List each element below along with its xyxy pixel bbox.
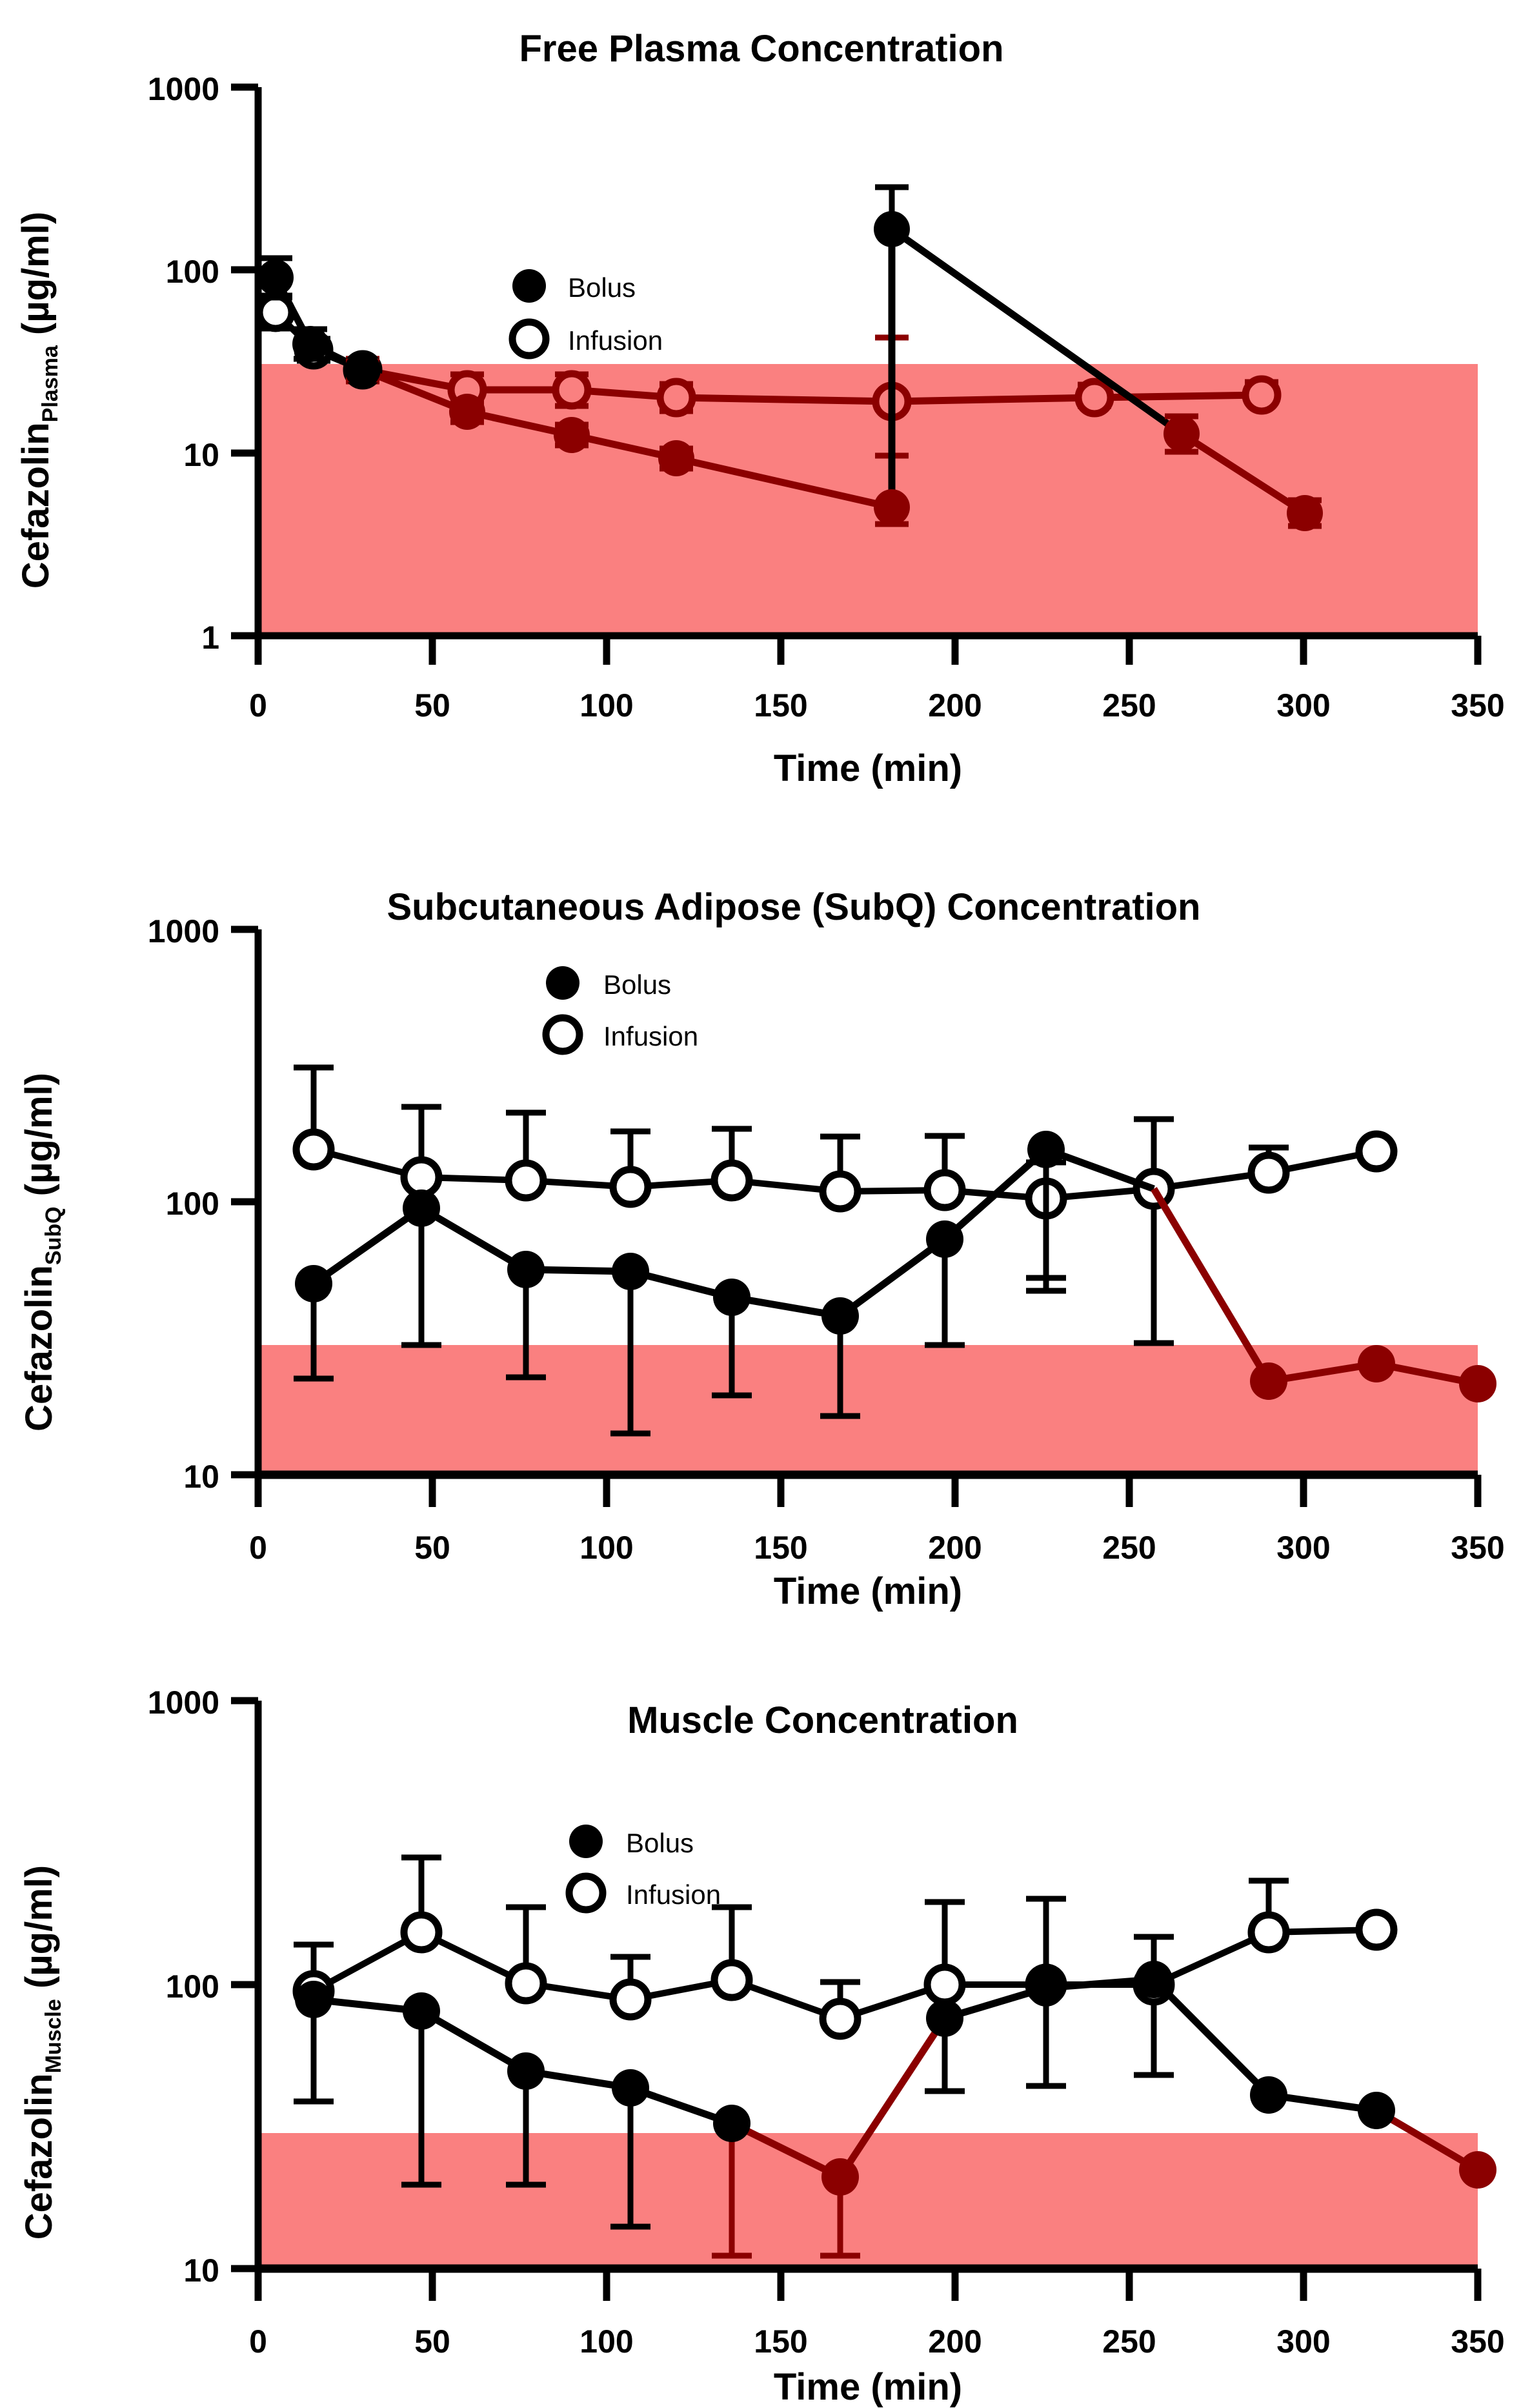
data-point-bolus bbox=[1163, 416, 1200, 452]
y-axis-label-sub: Muscle bbox=[41, 1999, 66, 2073]
legend-label-infusion: Infusion bbox=[568, 325, 663, 356]
legend-marker-infusion bbox=[569, 1876, 603, 1910]
legend-label-bolus: Bolus bbox=[568, 272, 636, 303]
data-point-bolus bbox=[403, 1992, 440, 2030]
data-point-bolus bbox=[257, 259, 294, 296]
legend-marker-bolus bbox=[546, 966, 579, 1000]
data-point-infusion bbox=[927, 1173, 962, 1208]
y-tick-label: 100 bbox=[166, 254, 219, 290]
x-tick-label: 100 bbox=[579, 687, 633, 723]
data-point-infusion bbox=[823, 1174, 858, 1209]
data-point-infusion bbox=[823, 2001, 858, 2036]
data-point-bolus bbox=[1287, 495, 1323, 531]
x-tick-label: 150 bbox=[754, 687, 807, 723]
data-point-infusion bbox=[556, 374, 588, 406]
x-tick-label: 250 bbox=[1102, 687, 1156, 723]
data-point-bolus bbox=[1358, 1345, 1395, 1382]
data-point-infusion bbox=[509, 1966, 543, 2001]
x-tick-label: 250 bbox=[1102, 2323, 1156, 2360]
data-point-bolus bbox=[345, 352, 381, 388]
data-point-infusion bbox=[927, 1967, 962, 2002]
data-point-bolus bbox=[449, 394, 485, 430]
data-point-bolus bbox=[292, 326, 328, 362]
data-point-infusion bbox=[613, 1982, 648, 2017]
data-point-bolus bbox=[1027, 1131, 1065, 1168]
data-point-bolus bbox=[926, 1220, 963, 1258]
x-tick-label: 100 bbox=[579, 1530, 633, 1566]
data-point-infusion bbox=[1245, 379, 1278, 411]
y-tick-label: 100 bbox=[166, 1968, 219, 2005]
x-axis-label: Time (min) bbox=[774, 1570, 962, 1612]
y-axis-label-unit: (µg/ml) bbox=[15, 212, 57, 335]
data-point-bolus bbox=[403, 1189, 440, 1227]
y-tick-label: 1000 bbox=[148, 913, 219, 949]
data-point-infusion bbox=[1251, 1155, 1286, 1190]
data-point-bolus bbox=[295, 1265, 332, 1302]
data-point-bolus bbox=[874, 489, 910, 525]
y-axis-label-space bbox=[15, 335, 57, 345]
data-point-bolus bbox=[713, 2105, 750, 2142]
x-axis-label: Time (min) bbox=[774, 2366, 962, 2408]
x-tick-label: 150 bbox=[754, 2323, 807, 2360]
panel-background bbox=[0, 839, 1521, 1614]
panel-free-plasma-svg: Free Plasma Concentration CefazolinPlasm… bbox=[0, 0, 1521, 807]
data-point-infusion bbox=[714, 1163, 749, 1198]
x-tick-label: 300 bbox=[1276, 687, 1330, 723]
figure-root: Free Plasma Concentration CefazolinPlasm… bbox=[0, 0, 1521, 2408]
x-tick-label: 300 bbox=[1276, 1530, 1330, 1566]
data-point-bolus bbox=[507, 2052, 545, 2090]
x-tick-label: 350 bbox=[1451, 2323, 1504, 2360]
y-axis-label-main: Cefazolin bbox=[18, 2073, 60, 2240]
y-axis-label-space bbox=[18, 1988, 60, 1999]
panel-muscle-svg: Muscle Concentration CefazolinMuscle (µg… bbox=[0, 1639, 1521, 2408]
panel-free-plasma: Free Plasma Concentration CefazolinPlasm… bbox=[0, 0, 1521, 807]
data-point-infusion bbox=[404, 1915, 439, 1950]
panel-subq-svg: Subcutaneous Adipose (SubQ) Concentratio… bbox=[0, 839, 1521, 1614]
legend-marker-bolus bbox=[569, 1825, 603, 1858]
legend-marker-infusion bbox=[512, 322, 546, 356]
y-axis-label-sub: Plasma bbox=[38, 345, 63, 422]
data-point-infusion bbox=[509, 1163, 543, 1198]
data-point-infusion bbox=[660, 381, 692, 414]
data-point-infusion bbox=[613, 1169, 648, 1204]
x-tick-label: 200 bbox=[928, 1530, 982, 1566]
x-tick-label: 0 bbox=[249, 2323, 267, 2360]
data-point-bolus bbox=[821, 1297, 859, 1335]
data-point-infusion bbox=[1078, 381, 1111, 414]
data-point-bolus bbox=[1250, 1362, 1287, 1400]
x-tick-label: 150 bbox=[754, 1530, 807, 1566]
y-axis-label-sub: SubQ bbox=[41, 1206, 66, 1265]
mic-threshold-band bbox=[258, 1345, 1478, 1475]
panel-muscle: Muscle Concentration CefazolinMuscle (µg… bbox=[0, 1639, 1521, 2408]
x-tick-label: 200 bbox=[928, 2323, 982, 2360]
data-point-infusion bbox=[404, 1160, 439, 1195]
data-point-infusion bbox=[296, 1132, 331, 1167]
panel-title: Subcutaneous Adipose (SubQ) Concentratio… bbox=[387, 886, 1201, 928]
x-tick-label: 0 bbox=[249, 1530, 267, 1566]
data-point-infusion bbox=[1359, 1912, 1394, 1947]
y-axis-label-main: Cefazolin bbox=[15, 422, 57, 589]
y-axis-label-unit: (µg/ml) bbox=[18, 1073, 60, 1196]
y-tick-label: 10 bbox=[183, 2252, 219, 2289]
x-tick-label: 350 bbox=[1451, 687, 1504, 723]
data-point-infusion bbox=[1251, 1915, 1286, 1950]
y-tick-label: 1000 bbox=[148, 1685, 219, 1721]
x-tick-label: 0 bbox=[249, 687, 267, 723]
x-axis-label: Time (min) bbox=[774, 747, 962, 789]
data-point-bolus bbox=[713, 1279, 750, 1316]
x-tick-label: 50 bbox=[414, 687, 450, 723]
data-point-bolus bbox=[554, 417, 590, 453]
data-point-bolus bbox=[612, 2069, 649, 2107]
y-axis-label-main: Cefazolin bbox=[18, 1265, 60, 1432]
x-tick-label: 50 bbox=[414, 1530, 450, 1566]
legend-marker-bolus bbox=[512, 269, 546, 303]
y-tick-label: 1000 bbox=[148, 71, 219, 107]
data-point-bolus bbox=[1135, 1961, 1173, 1998]
y-axis-label-unit: (µg/ml) bbox=[18, 1865, 60, 1988]
mic-threshold-band bbox=[258, 2133, 1478, 2269]
legend-label-bolus: Bolus bbox=[603, 969, 671, 1000]
data-point-infusion bbox=[714, 1963, 749, 1998]
data-point-bolus bbox=[926, 1999, 963, 2037]
data-point-bolus bbox=[1459, 1365, 1496, 1402]
x-tick-label: 200 bbox=[928, 687, 982, 723]
panel-subq: Subcutaneous Adipose (SubQ) Concentratio… bbox=[0, 839, 1521, 1614]
x-tick-label: 50 bbox=[414, 2323, 450, 2360]
data-point-bolus bbox=[295, 1981, 332, 2018]
y-tick-label: 10 bbox=[183, 437, 219, 473]
x-tick-label: 300 bbox=[1276, 2323, 1330, 2360]
panel-background bbox=[0, 1639, 1521, 2408]
y-tick-label: 100 bbox=[166, 1186, 219, 1222]
data-point-bolus bbox=[507, 1251, 545, 1288]
legend-label-infusion: Infusion bbox=[626, 1879, 721, 1910]
data-point-bolus bbox=[1250, 2076, 1287, 2114]
legend-marker-infusion bbox=[546, 1018, 579, 1051]
legend-label-infusion: Infusion bbox=[603, 1021, 698, 1051]
data-point-bolus bbox=[821, 2158, 859, 2196]
data-point-bolus-redose bbox=[874, 211, 910, 247]
y-tick-label: 1 bbox=[201, 620, 219, 656]
y-tick-label: 10 bbox=[183, 1459, 219, 1495]
data-point-bolus bbox=[658, 440, 694, 476]
x-tick-label: 100 bbox=[579, 2323, 633, 2360]
panel-title: Muscle Concentration bbox=[627, 1699, 1018, 1741]
data-point-bolus bbox=[612, 1253, 649, 1290]
panel-title: Free Plasma Concentration bbox=[519, 28, 1004, 70]
data-point-bolus bbox=[1358, 2092, 1395, 2129]
data-point-bolus bbox=[1459, 2151, 1496, 2189]
data-point-bolus bbox=[1027, 1969, 1065, 2007]
y-axis-label-space bbox=[18, 1196, 60, 1206]
x-tick-label: 350 bbox=[1451, 1530, 1504, 1566]
data-point-infusion bbox=[1359, 1134, 1394, 1169]
legend-label-bolus: Bolus bbox=[626, 1828, 694, 1858]
x-tick-label: 250 bbox=[1102, 1530, 1156, 1566]
